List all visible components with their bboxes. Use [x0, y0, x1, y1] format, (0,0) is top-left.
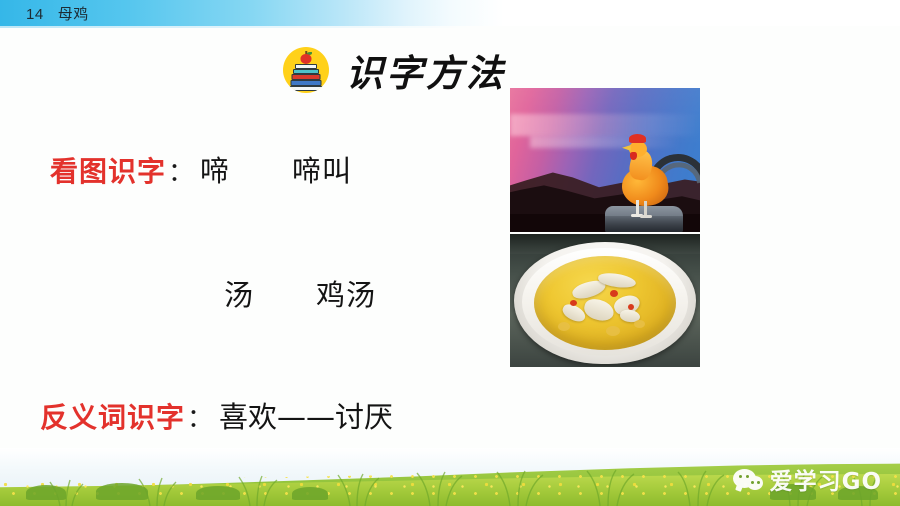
header-breadcrumb: 14母鸡: [26, 3, 89, 24]
character-ti: 啼: [200, 148, 230, 190]
cloud-band: [530, 136, 680, 148]
wechat-eye: [757, 481, 760, 484]
goji-berry: [610, 290, 618, 297]
rock-shadow: [605, 216, 683, 232]
watermark: 爱学习GO: [733, 462, 882, 496]
apple-icon: [301, 54, 312, 64]
goji-berry: [570, 300, 577, 306]
header-underline: [0, 26, 470, 28]
wechat-icon: [733, 467, 763, 492]
bush: [26, 485, 66, 500]
antonym-row: 反义词识字 ： 喜欢——讨厌: [40, 394, 393, 436]
antonym-pair: 喜欢——讨厌: [219, 394, 393, 436]
goji-berry: [628, 304, 634, 310]
rooster-leg: [644, 201, 647, 216]
antonym-colon: ：: [185, 398, 219, 435]
vegetable-piece: [634, 320, 645, 328]
antonym-label: 反义词识字: [40, 396, 185, 436]
bush: [96, 483, 148, 500]
cloud-band: [510, 114, 700, 136]
books-apple-badge-icon: [283, 47, 329, 93]
lookup-picture-label: 看图识字: [50, 150, 166, 190]
soup-character-row: 汤 鸡汤: [224, 272, 376, 314]
rooster-foot: [640, 215, 652, 218]
vegetable-piece: [606, 326, 620, 336]
watermark-label: 爱学习GO: [770, 462, 882, 496]
character-tang: 汤: [224, 272, 254, 314]
vegetable-piece: [558, 322, 570, 331]
rooster-wattle: [630, 152, 637, 160]
wechat-eye: [739, 475, 742, 478]
book-icon: [290, 86, 323, 91]
lesson-title: 母鸡: [58, 5, 89, 23]
section-title: 识字方法: [283, 45, 506, 95]
wechat-eye: [751, 481, 754, 484]
lesson-number: 14: [26, 6, 44, 23]
section-title-label: 识字方法: [346, 43, 506, 97]
header-bar: [0, 0, 900, 26]
rooster-comb: [629, 134, 646, 143]
wechat-eye: [746, 475, 749, 478]
bush: [196, 486, 240, 500]
bush: [292, 487, 328, 500]
wechat-bubble-small: [747, 476, 763, 490]
word-tijiao: 啼叫: [292, 148, 352, 190]
rooster-crowing-photo: [510, 88, 700, 232]
lookup-picture-colon: ：: [166, 152, 200, 189]
chicken-soup-photo: [510, 234, 700, 367]
word-jitang: 鸡汤: [316, 272, 376, 314]
lookup-picture-row: 看图识字 ： 啼 啼叫: [50, 148, 352, 190]
slide-canvas: 14母鸡 识字方法 看图识字 ： 啼 啼叫 汤 鸡汤 反义词识字 ： 喜欢——讨…: [0, 0, 900, 506]
